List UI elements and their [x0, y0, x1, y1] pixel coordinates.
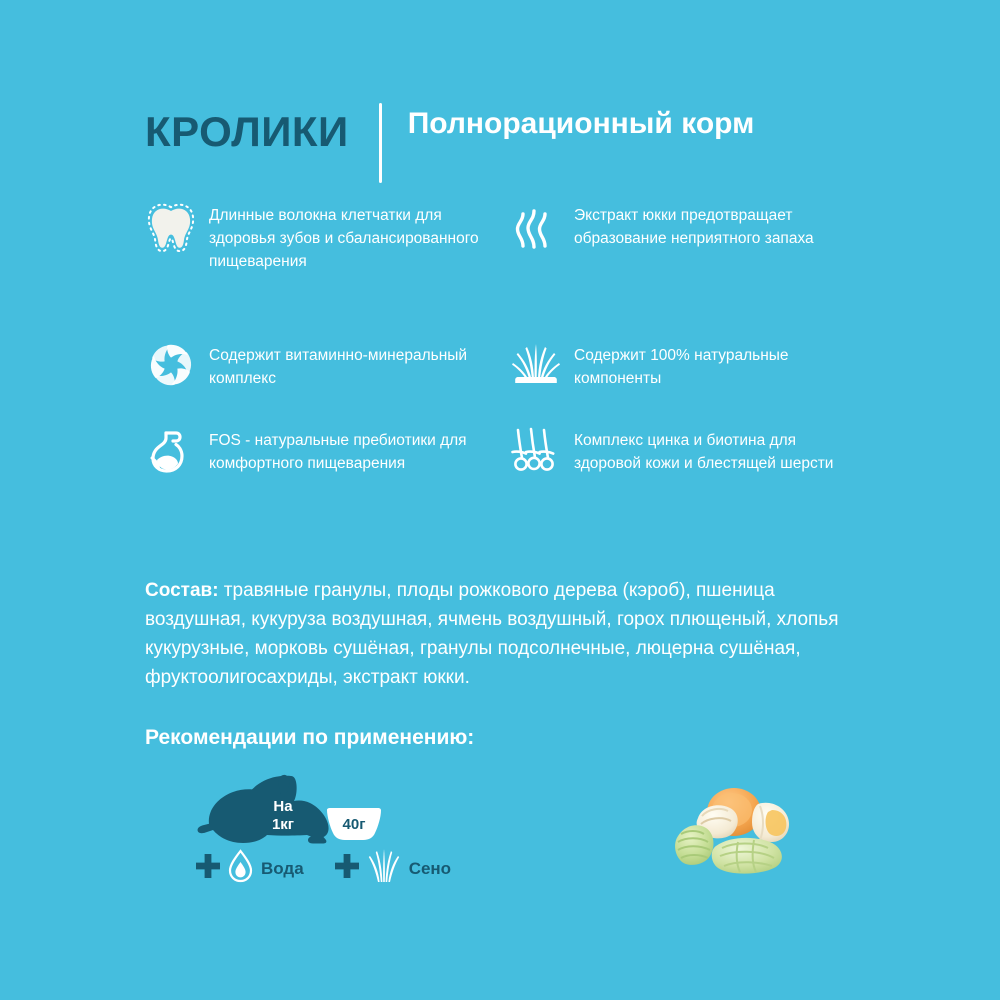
feature-item: FOS - натуральные пребиотики для комфорт…: [145, 425, 490, 510]
feature-item: Содержит 100% натуральные компоненты: [510, 340, 855, 425]
product-info-panel: КРОЛИКИ Полнорационный корм Длинные воло…: [0, 0, 1000, 1000]
header: КРОЛИКИ Полнорационный корм: [145, 103, 754, 183]
feature-text: Содержит витаминно-минеральный комплекс: [209, 340, 490, 390]
composition-text: травяные гранулы, плоды рожкового дерева…: [145, 580, 839, 688]
page-title: КРОЛИКИ: [145, 103, 349, 155]
food-product-photo: [672, 780, 832, 890]
addon-hay: Сено: [334, 848, 451, 889]
smoke-odor-icon: [510, 200, 562, 254]
composition-block: Состав: травяные гранулы, плоды рожковог…: [145, 576, 865, 692]
feature-item: Содержит витаминно-минеральный комплекс: [145, 340, 490, 425]
addon-label: Вода: [261, 859, 304, 879]
feeding-diagram: На 1кг 40г: [195, 772, 495, 892]
composition-label: Состав:: [145, 580, 219, 601]
addon-water: Вода: [195, 849, 304, 888]
feeding-addons: Вода: [195, 848, 451, 889]
feature-text: Содержит 100% натуральные компоненты: [574, 340, 855, 390]
recommendations-title: Рекомендации по применению:: [145, 726, 474, 750]
feature-list: Длинные волокна клетчатки для здоровья з…: [145, 200, 865, 510]
feature-item: Комплекс цинка и биотина для здоровой ко…: [510, 425, 855, 510]
hair-follicle-icon: [510, 425, 562, 479]
aperture-icon: [145, 340, 197, 394]
feature-item: Экстракт юкки предотвращает образование …: [510, 200, 855, 340]
rabbit-dose-label: На 1кг: [263, 798, 303, 834]
plus-icon: [334, 853, 360, 884]
tooth-icon: [145, 200, 197, 254]
feature-text: Длинные волокна клетчатки для здоровья з…: [209, 200, 490, 273]
header-divider: [379, 103, 382, 183]
addon-label: Сено: [409, 859, 451, 879]
feature-item: Длинные волокна клетчатки для здоровья з…: [145, 200, 490, 340]
feature-text: Экстракт юкки предотвращает образование …: [574, 200, 855, 250]
stomach-icon: [145, 425, 197, 479]
header-subtitle: Полнорационный корм: [408, 103, 755, 144]
plus-icon: [195, 853, 221, 884]
grass-icon: [510, 340, 562, 394]
water-drop-icon: [227, 849, 254, 888]
feature-text: Комплекс цинка и биотина для здоровой ко…: [574, 425, 855, 475]
hay-icon: [366, 848, 402, 889]
feature-text: FOS - натуральные пребиотики для комфорт…: [209, 425, 490, 475]
portion-label: 40г: [323, 816, 385, 833]
